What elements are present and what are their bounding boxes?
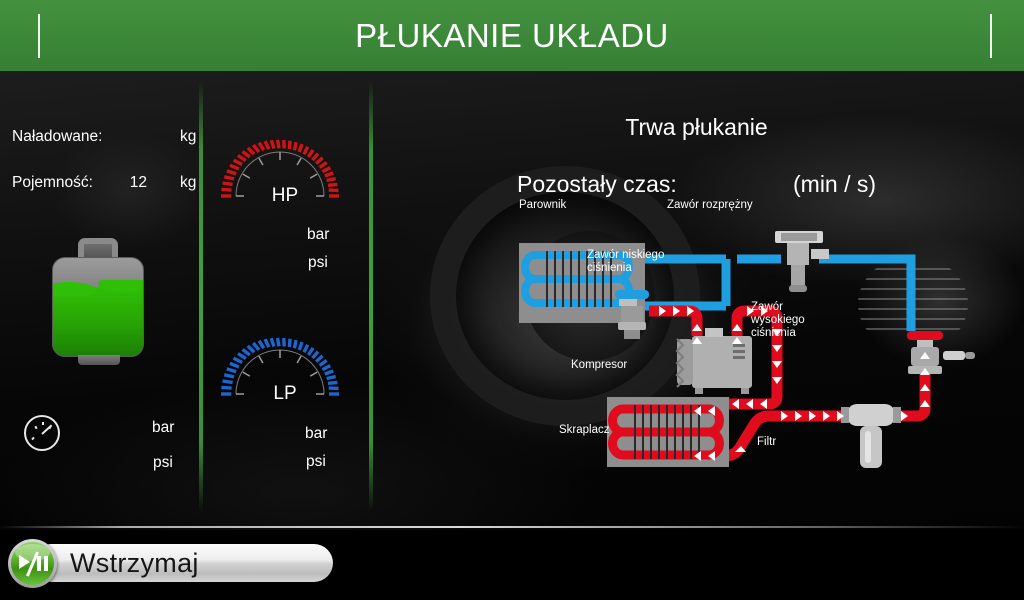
gauge-tick	[34, 426, 37, 430]
label-filter: Filtr	[757, 436, 776, 449]
charged-unit: kg	[180, 128, 196, 146]
hp-bar-unit: bar	[307, 226, 329, 244]
hp-psi-unit: psi	[308, 254, 328, 272]
hp-gauge-label: HP	[217, 185, 353, 207]
lp-bar-unit: bar	[305, 425, 327, 443]
play-pause-icon-inner	[11, 542, 54, 585]
gauge-tick	[48, 426, 51, 430]
bottle-foot	[78, 355, 120, 365]
header-rule-right	[990, 14, 992, 58]
capacity-row: Pojemność: 12 kg	[12, 174, 197, 194]
filter-icon	[841, 404, 901, 468]
gauge-tick	[42, 422, 44, 425]
high-pressure-valve-icon	[907, 331, 975, 374]
pause-glyph	[37, 556, 48, 571]
label-high-pressure-valve: Zawór wysokiego ciśnienia	[751, 301, 805, 340]
label-evaporator: Parownik	[519, 199, 566, 212]
pause-button-label: Wstrzymaj	[70, 548, 199, 579]
header-rule-left	[38, 14, 40, 58]
charged-row: Naładowane: kg	[12, 128, 197, 148]
label-condenser: Skraplacz	[559, 424, 610, 437]
label-low-pressure-valve: Zawór niskiego ciśnienia	[587, 249, 664, 275]
charged-label: Naładowane:	[12, 128, 102, 146]
flush-procedure-screen: PŁUKANIE UKŁADU Naładowane: kg Pojemność…	[0, 0, 1024, 600]
capacity-unit: kg	[180, 174, 196, 192]
pressure-bar-unit: bar	[152, 419, 174, 437]
capacity-label: Pojemność:	[12, 174, 93, 192]
capacity-value: 12	[107, 174, 147, 192]
gas-bottle-icon	[52, 238, 144, 368]
bottle-body	[52, 257, 144, 357]
remaining-time-row: Pozostały czas: (min / s)	[369, 171, 1024, 199]
remaining-time-label: Pozostały czas:	[517, 171, 677, 198]
footer-bar: Wstrzymaj	[0, 530, 1024, 600]
pause-button[interactable]: Wstrzymaj	[8, 544, 333, 582]
main-content: Naładowane: kg Pojemność: 12 kg	[0, 71, 1024, 530]
pressure-psi-unit: psi	[153, 454, 173, 472]
status-panel: Trwa płukanie Pozostały czas: (min / s)	[369, 71, 1024, 530]
gauge-tick	[31, 437, 34, 441]
pressure-gauges-panel: HP bar psi	[199, 71, 369, 530]
page-title: PŁUKANIE UKŁADU	[355, 19, 669, 52]
label-expansion-valve: Zawór rozprężny	[667, 199, 753, 212]
ac-circuit-diagram: Parownik Zawór rozprężny Zawór niskiego …	[519, 211, 1024, 501]
lp-gauge-label: LP	[217, 383, 353, 405]
remaining-time-unit: (min / s)	[793, 171, 876, 198]
status-text: Trwa płukanie	[369, 114, 1024, 141]
lp-psi-unit: psi	[306, 453, 326, 471]
compressor-icon	[677, 328, 752, 394]
label-compressor: Kompresor	[571, 359, 627, 372]
play-pause-icon[interactable]	[8, 539, 57, 588]
refrigerant-panel: Naładowane: kg Pojemność: 12 kg	[0, 71, 199, 530]
bottle-fill-level	[53, 287, 143, 356]
app-header: PŁUKANIE UKŁADU	[0, 0, 1024, 71]
gauge-icon	[24, 415, 60, 451]
